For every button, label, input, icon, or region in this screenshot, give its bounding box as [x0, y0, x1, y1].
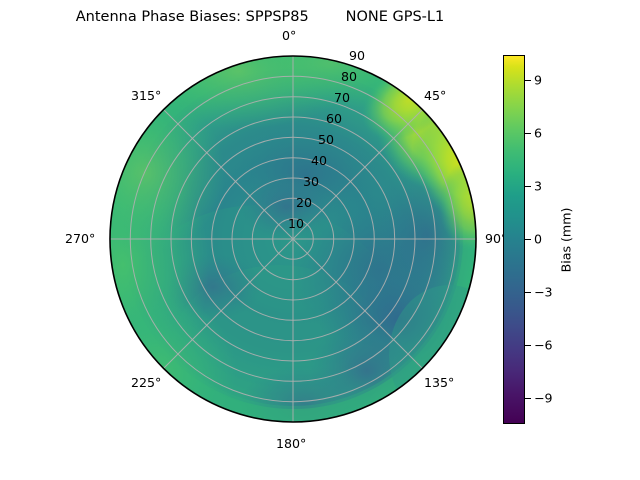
- theta-label-45: 45°: [424, 88, 446, 103]
- colorbar-tick-6: [525, 133, 531, 134]
- page-title: Antenna Phase Biases: SPPSP85 NONE GPS-L…: [0, 9, 520, 25]
- colorbar-tick-9: [525, 80, 531, 81]
- theta-label-225: 225°: [131, 375, 161, 390]
- r-tick-90: 90: [349, 48, 365, 63]
- colorbar-tick-m3: [525, 292, 531, 293]
- colorbar-tick-m9: [525, 398, 531, 399]
- r-tick-20: 20: [296, 195, 312, 210]
- colorbar-gradient: [503, 55, 525, 424]
- r-tick-50: 50: [318, 132, 334, 147]
- polar-plot[interactable]: 10 20 30 40 50 60 70 80 90: [109, 55, 477, 423]
- colorbar-ticklabel-m3: −3: [534, 285, 553, 300]
- polar-axes-svg: [109, 55, 477, 423]
- theta-label-270: 270°: [65, 231, 95, 246]
- colorbar-ticklabel-6: 6: [534, 126, 542, 141]
- colorbar-tick-m6: [525, 345, 531, 346]
- r-tick-60: 60: [326, 111, 342, 126]
- theta-label-180: 180°: [276, 436, 306, 451]
- colorbar-tick-3: [525, 186, 531, 187]
- r-tick-40: 40: [311, 153, 327, 168]
- colorbar-ticklabel-9: 9: [534, 73, 542, 88]
- r-tick-30: 30: [303, 174, 319, 189]
- colorbar[interactable]: 9 6 3 0 −3 −6 −9: [503, 55, 525, 424]
- r-tick-70: 70: [334, 90, 350, 105]
- colorbar-ticklabel-m6: −6: [534, 338, 553, 353]
- r-tick-10: 10: [288, 216, 304, 231]
- polar-angular-grid: [110, 56, 476, 422]
- theta-label-315: 315°: [131, 88, 161, 103]
- colorbar-ticklabel-m9: −9: [534, 391, 553, 406]
- colorbar-ticklabel-0: 0: [534, 232, 542, 247]
- r-tick-80: 80: [341, 69, 357, 84]
- figure-canvas: Antenna Phase Biases: SPPSP85 NONE GPS-L…: [0, 0, 640, 480]
- colorbar-tick-0: [525, 239, 531, 240]
- colorbar-ticklabel-3: 3: [534, 179, 542, 194]
- colorbar-axis-label: Bias (mm): [559, 208, 574, 273]
- theta-label-135: 135°: [424, 375, 454, 390]
- theta-label-0: 0°: [282, 28, 296, 43]
